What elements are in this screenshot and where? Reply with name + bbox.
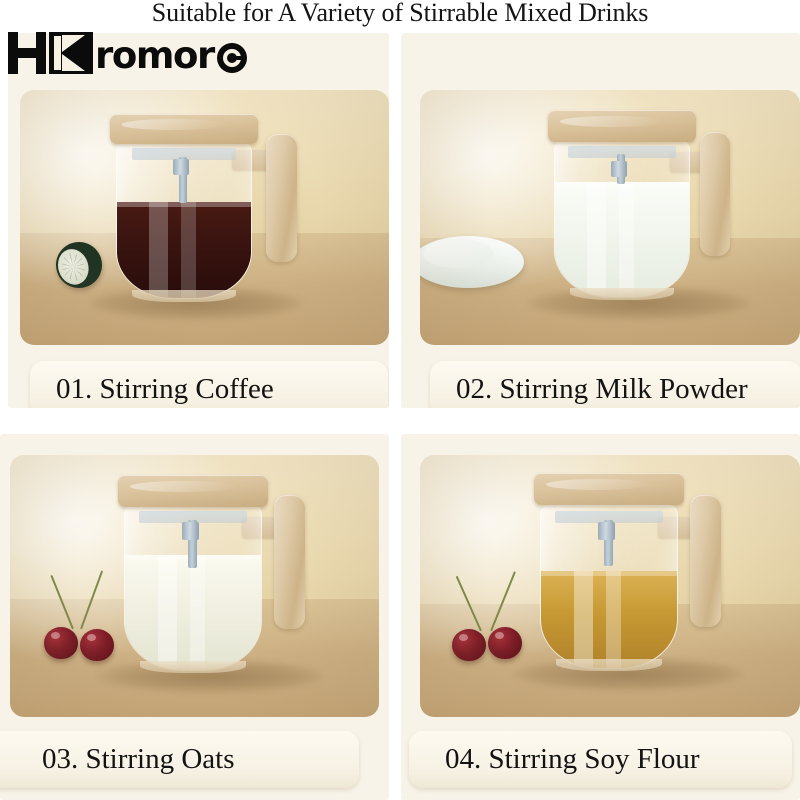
stirring-mug-soy xyxy=(528,469,708,687)
mug-glass-body xyxy=(116,142,252,299)
liquid-milk xyxy=(555,182,689,297)
cherry-fruit xyxy=(488,627,522,659)
stirrer-head xyxy=(182,522,199,540)
cherry-stem xyxy=(80,570,103,629)
mug-wood-lid xyxy=(534,473,684,505)
mug-glass-body xyxy=(540,505,678,669)
mug-wood-lid xyxy=(110,114,258,144)
caption-panel-4: 04. Stirring Soy Flour xyxy=(409,731,792,788)
mug-glass-body xyxy=(124,505,262,671)
caption-panel-1: 01. Stirring Coffee xyxy=(30,361,388,408)
stirring-mug-coffee xyxy=(106,108,276,313)
product-photo-milk-powder xyxy=(420,90,800,345)
mug-base xyxy=(140,661,246,673)
cherry-fruit xyxy=(80,629,114,661)
mug-handle-grip xyxy=(690,495,721,627)
product-photo-soy-flour xyxy=(420,455,800,717)
cherries-prop xyxy=(446,567,536,675)
logo-wordmark: romor xyxy=(95,37,214,74)
mug-handle-grip xyxy=(266,134,297,262)
cherry-fruit xyxy=(452,629,486,661)
caption-text: 01. Stirring Coffee xyxy=(56,373,274,406)
mug-handle-grip xyxy=(700,132,730,256)
panel-stirring-oats: 03. Stirring Oats xyxy=(0,434,389,800)
mug-base xyxy=(556,659,662,671)
stirrer-head xyxy=(598,522,615,540)
stirring-mug-milk xyxy=(542,104,718,314)
cherry-stem xyxy=(50,575,74,630)
logo-circled-e-icon xyxy=(217,43,247,73)
mug-glass-body xyxy=(554,140,690,298)
panel-stirring-soy-flour: 04. Stirring Soy Flour xyxy=(401,434,800,800)
caption-text: 04. Stirring Soy Flour xyxy=(445,743,700,776)
brand-logo: romor xyxy=(8,31,247,75)
liquid-soy-flour xyxy=(541,571,677,668)
cherries-prop xyxy=(40,565,130,673)
caption-panel-2: 02. Stirring Milk Powder xyxy=(430,361,800,408)
cherry-stem xyxy=(490,571,516,631)
stirring-mug-oats xyxy=(114,471,292,689)
logo-letter-h-icon xyxy=(8,32,46,74)
panel-grid: 01. Stirring Coffee xyxy=(0,0,800,800)
caption-panel-3: 03. Stirring Oats xyxy=(0,731,359,788)
cherry-fruit xyxy=(44,627,78,659)
logo-letter-k-icon xyxy=(49,32,93,74)
mug-wood-lid xyxy=(548,110,696,142)
mug-handle-grip xyxy=(274,495,305,629)
mug-base xyxy=(570,288,674,300)
page-title: Suitable for A Variety of Stirrable Mixe… xyxy=(0,0,800,28)
panel-stirring-coffee: 01. Stirring Coffee xyxy=(8,33,389,408)
stirrer-head xyxy=(611,161,627,177)
panel-stirring-milk-powder: 02. Stirring Milk Powder xyxy=(401,33,800,408)
product-photo-coffee xyxy=(20,90,389,345)
mug-wood-lid xyxy=(118,475,268,507)
caption-text: 02. Stirring Milk Powder xyxy=(456,373,748,406)
cherry-stem xyxy=(456,576,482,632)
product-photo-oats xyxy=(10,455,379,717)
mug-base xyxy=(132,290,236,302)
stirrer-head xyxy=(173,159,189,175)
liquid-oats xyxy=(125,555,261,670)
liquid-coffee xyxy=(117,202,251,298)
caption-text: 03. Stirring Oats xyxy=(42,743,235,776)
